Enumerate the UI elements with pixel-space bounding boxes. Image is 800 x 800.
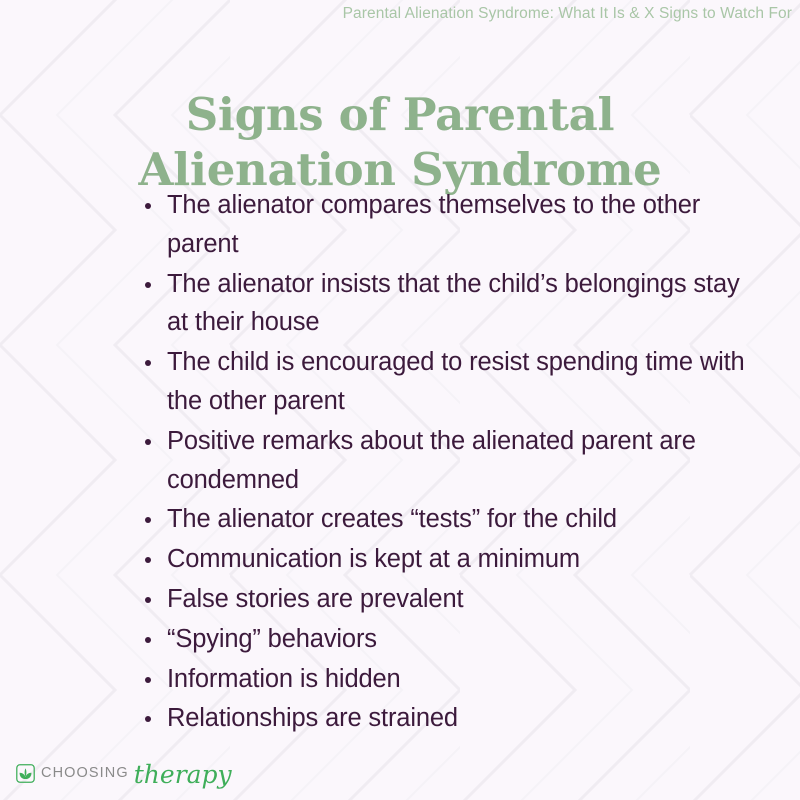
bullet-dot-icon bbox=[145, 360, 151, 366]
brand-logo: CHOOSING therapy bbox=[16, 760, 232, 786]
list-item: The child is encouraged to resist spendi… bbox=[140, 343, 760, 421]
logo-word-therapy: therapy bbox=[134, 762, 232, 787]
list-item-text: Communication is kept at a minimum bbox=[167, 545, 580, 573]
bullet-dot-icon bbox=[145, 716, 151, 722]
list-item: The alienator creates “tests” for the ch… bbox=[140, 500, 760, 539]
list-item-text: The alienator insists that the child’s b… bbox=[167, 270, 740, 337]
bullet-dot-icon bbox=[145, 597, 151, 603]
bullet-dot-icon bbox=[145, 282, 151, 288]
list-item: The alienator compares themselves to the… bbox=[140, 186, 760, 264]
list-item: False stories are prevalent bbox=[140, 580, 760, 619]
list-item-text: Relationships are strained bbox=[167, 704, 458, 732]
bullet-dot-icon bbox=[145, 517, 151, 523]
list-item-text: The alienator compares themselves to the… bbox=[167, 191, 700, 258]
list-item-text: “Spying” behaviors bbox=[167, 625, 377, 653]
page-title-line-1: Signs of Parental bbox=[0, 88, 800, 143]
article-eyebrow-title: Parental Alienation Syndrome: What It Is… bbox=[200, 5, 792, 24]
list-item-text: The alienator creates “tests” for the ch… bbox=[167, 505, 617, 533]
bullet-dot-icon bbox=[145, 439, 151, 445]
logo-word-choosing: CHOOSING bbox=[41, 765, 129, 781]
bullet-dot-icon bbox=[145, 203, 151, 209]
lotus-leaf-logo-icon bbox=[16, 764, 35, 783]
infographic-poster: Parental Alienation Syndrome: What It Is… bbox=[0, 0, 800, 800]
list-item-text: The child is encouraged to resist spendi… bbox=[167, 348, 745, 415]
list-item-text: False stories are prevalent bbox=[167, 585, 463, 613]
list-item: “Spying” behaviors bbox=[140, 620, 760, 659]
bullet-dot-icon bbox=[145, 557, 151, 563]
list-item-text: Positive remarks about the alienated par… bbox=[167, 427, 696, 494]
list-item: Relationships are strained bbox=[140, 699, 760, 738]
bullet-dot-icon bbox=[145, 637, 151, 643]
bullet-dot-icon bbox=[145, 677, 151, 683]
signs-list: The alienator compares themselves to the… bbox=[140, 186, 760, 739]
page-title: Signs of Parental Alienation Syndrome bbox=[0, 88, 800, 198]
list-item: Positive remarks about the alienated par… bbox=[140, 422, 760, 500]
list-item: The alienator insists that the child’s b… bbox=[140, 265, 760, 343]
list-item: Information is hidden bbox=[140, 660, 760, 699]
list-item: Communication is kept at a minimum bbox=[140, 540, 760, 579]
list-item-text: Information is hidden bbox=[167, 665, 401, 693]
